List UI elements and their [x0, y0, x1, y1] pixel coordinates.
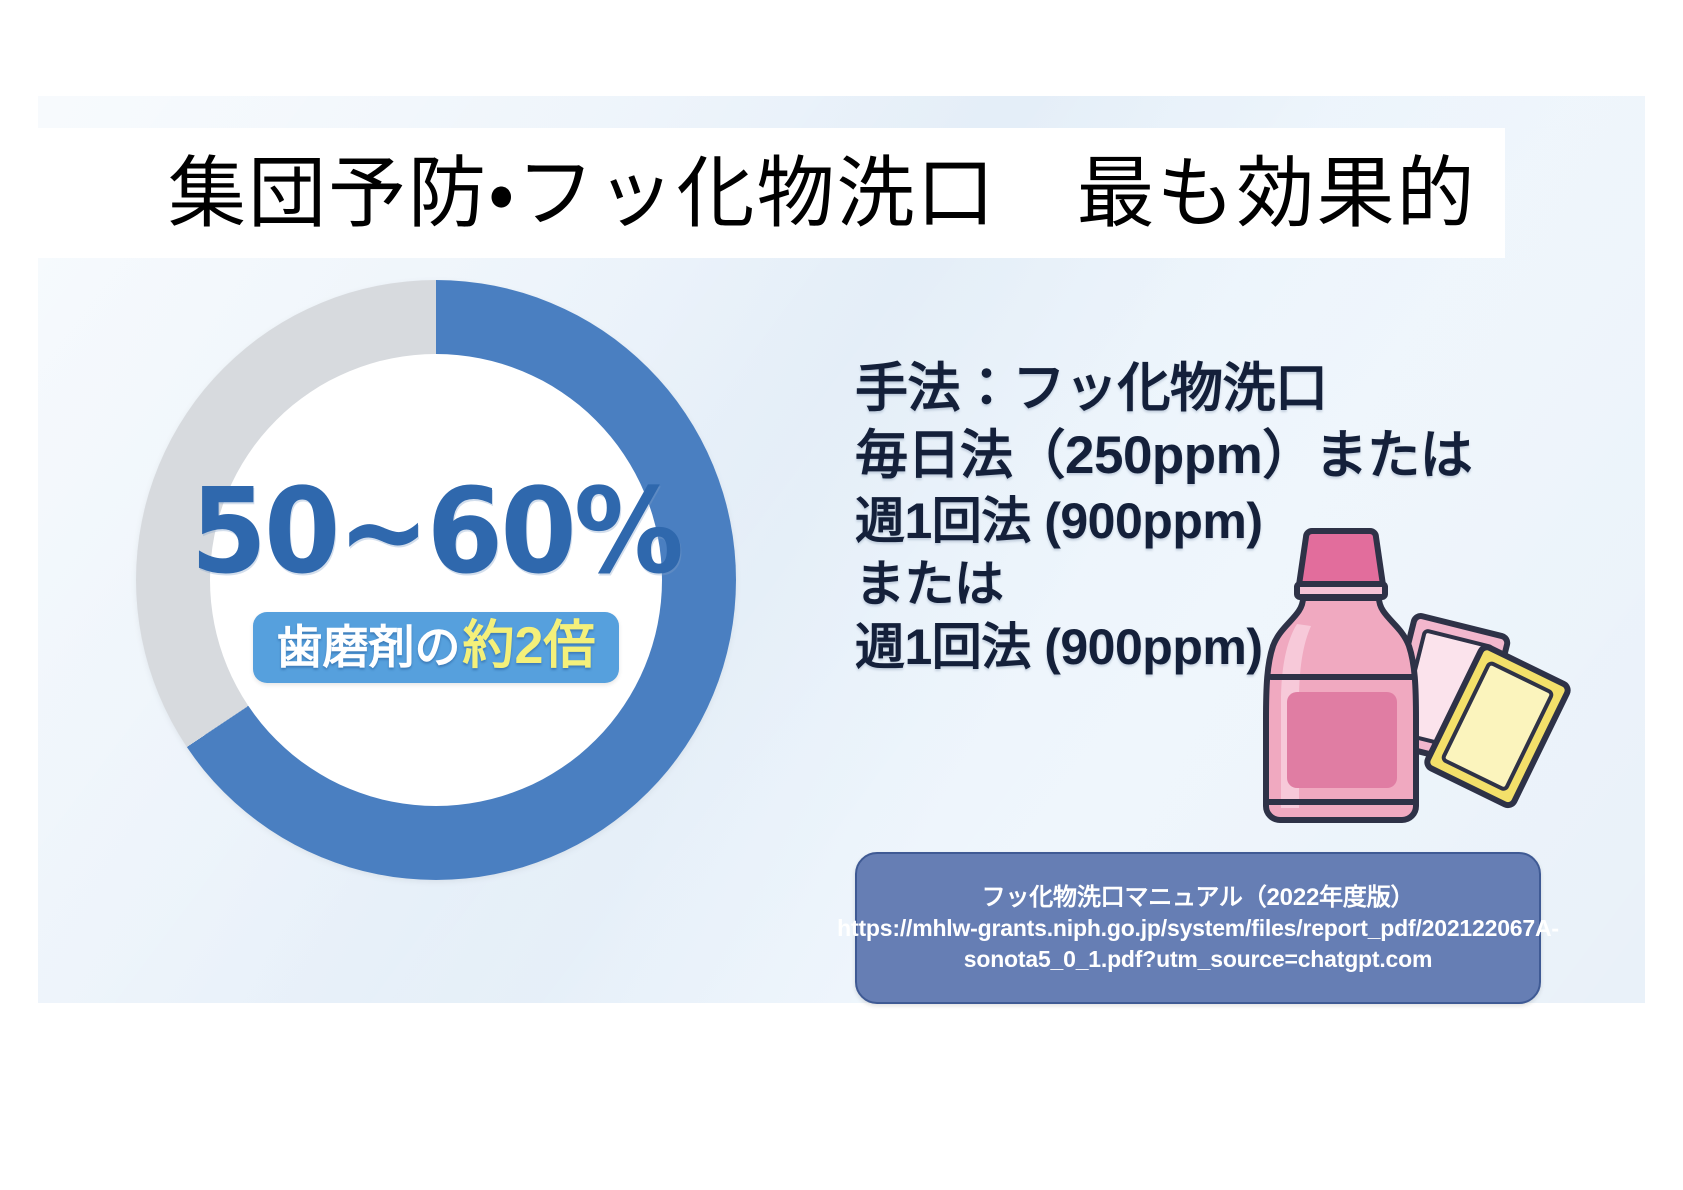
badge-accent-label: 約2倍	[463, 620, 596, 672]
mouthwash-illustration	[1245, 520, 1575, 840]
title-band: 集団予防・フッ化物洗口 最も効果的	[38, 128, 1505, 258]
mouthwash-bottle-icon	[1245, 520, 1575, 840]
donut-comparison-badge: 歯磨剤の 約2倍	[253, 612, 620, 683]
citation-url-line-1[interactable]: https://mhlw-grants.niph.go.jp/system/fi…	[837, 913, 1559, 943]
donut-ring: 50~60% 歯磨剤の 約2倍	[136, 280, 736, 880]
method-line-2: 毎日法（250ppm）または	[855, 423, 1575, 490]
donut-value-label: 50~60%	[191, 472, 682, 590]
citation-box: フッ化物洗口マニュアル（2022年度版） https://mhlw-grants…	[855, 852, 1541, 1004]
citation-url-line-2[interactable]: sonota5_0_1.pdf?utm_source=chatgpt.com	[964, 944, 1432, 974]
page-title: 集団予防・フッ化物洗口 最も効果的	[168, 154, 1477, 232]
donut-center: 50~60% 歯磨剤の 約2倍	[210, 354, 662, 806]
donut-chart: 50~60% 歯磨剤の 約2倍	[118, 272, 758, 900]
citation-title: フッ化物洗口マニュアル（2022年度版）	[982, 882, 1415, 914]
method-line-1: 手法：フッ化物洗口	[855, 356, 1575, 423]
badge-main-label: 歯磨剤の	[277, 624, 461, 670]
slide-root: 集団予防・フッ化物洗口 最も効果的 50~60% 歯磨剤の 約2倍 手法：フッ化…	[0, 0, 1683, 1190]
